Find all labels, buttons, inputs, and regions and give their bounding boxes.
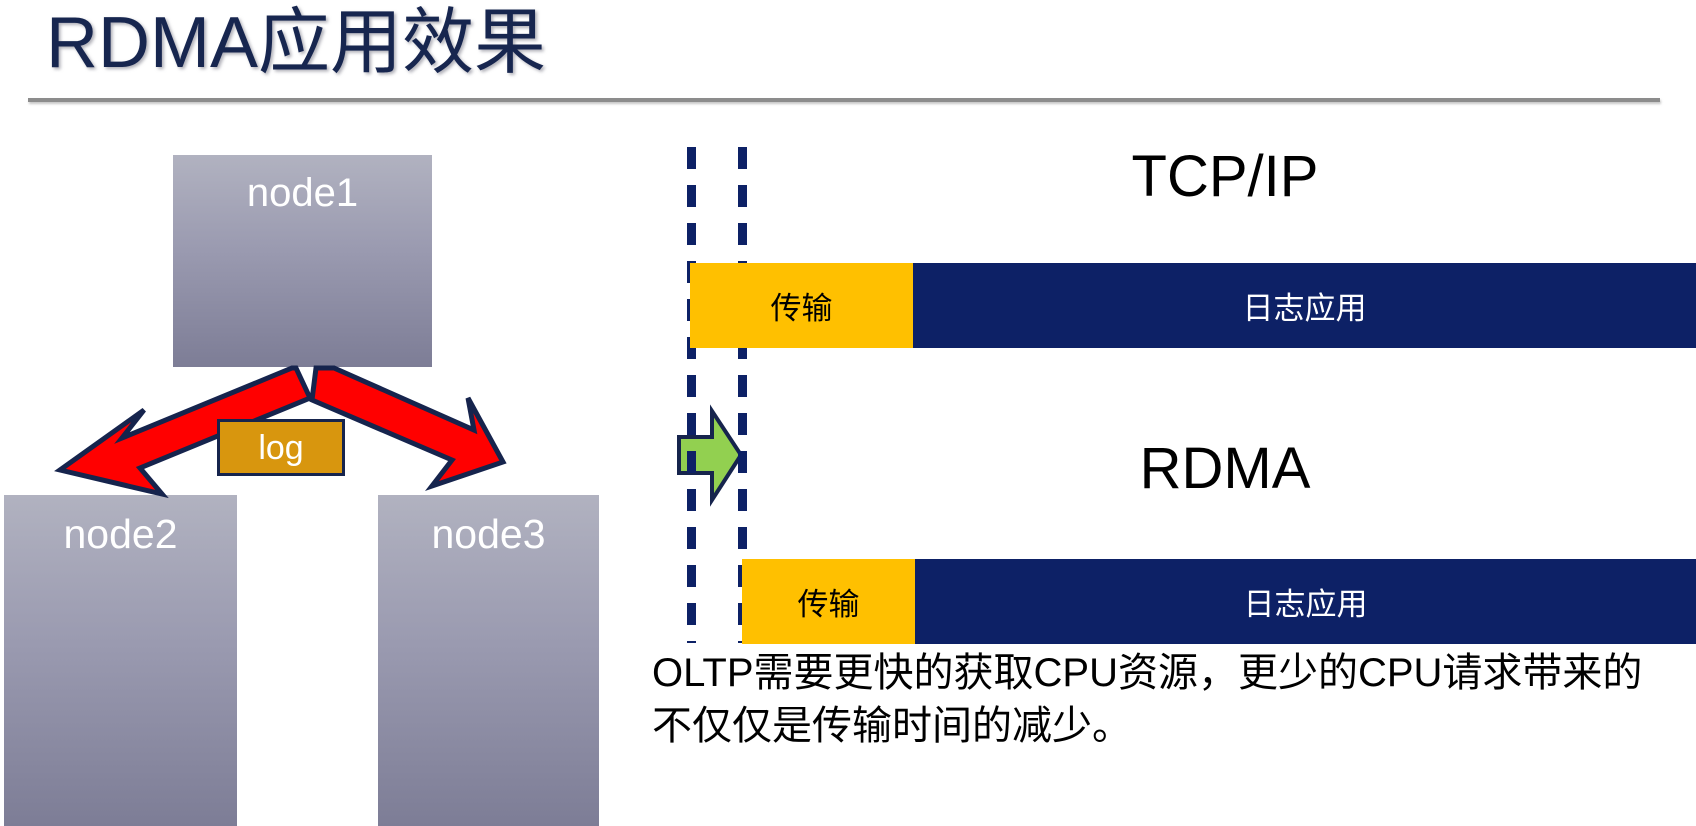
tcpip-application-segment: 日志应用 (913, 263, 1696, 348)
node-box-node3: node3 (378, 495, 599, 826)
log-box: log (217, 419, 345, 476)
tcpip-section-title: TCP/IP (940, 145, 1510, 209)
node3-label: node3 (378, 489, 599, 579)
tcpip-transfer-segment: 传输 (690, 263, 913, 348)
node-box-node2: node2 (4, 495, 237, 826)
page-title: RDMA应用效果 (46, 0, 546, 88)
rdma-application-segment: 日志应用 (915, 559, 1696, 644)
slide-canvas: RDMA应用效果 node1 node2 node3 log TCP/IP RD… (0, 0, 1696, 826)
rdma-bar: 传输 日志应用 (742, 559, 1696, 644)
rdma-section-title: RDMA (940, 437, 1510, 501)
rdma-transfer-segment: 传输 (742, 559, 915, 644)
tcpip-bar: 传输 日志应用 (690, 263, 1696, 348)
timeline-marker-1 (687, 147, 696, 643)
title-divider (28, 98, 1660, 102)
log-label: log (258, 429, 303, 467)
node-box-node1: node1 (173, 155, 432, 367)
node2-label: node2 (4, 489, 237, 579)
node1-label: node1 (173, 163, 432, 223)
slide-caption: OLTP需要更快的获取CPU资源，更少的CPU请求带来的不仅仅是传输时间的减少。 (652, 647, 1662, 753)
